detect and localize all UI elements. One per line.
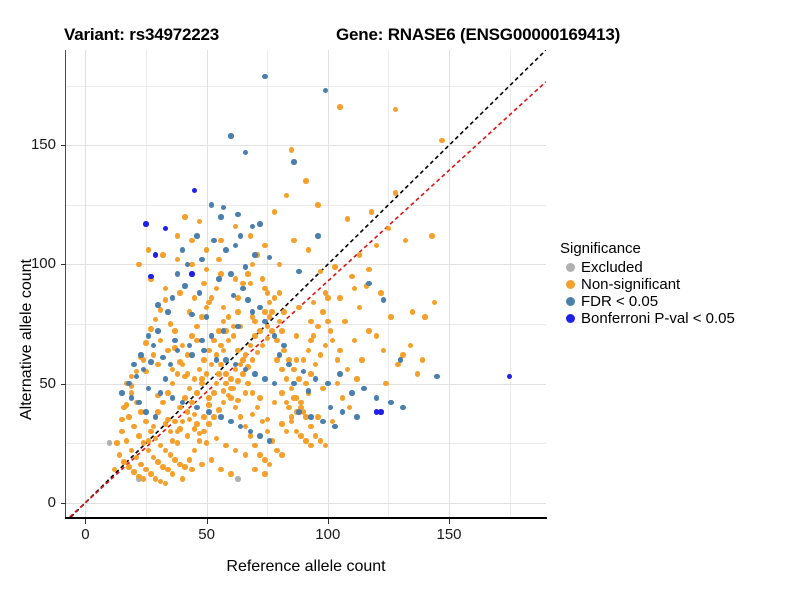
data-point (281, 309, 287, 315)
data-point (170, 395, 176, 401)
data-point (201, 357, 207, 363)
data-point (289, 414, 295, 420)
data-point (136, 400, 142, 406)
data-point (177, 359, 183, 365)
gridline-vertical-minor (267, 50, 268, 517)
data-point (238, 424, 244, 430)
data-point (143, 221, 149, 227)
data-point (315, 233, 321, 239)
scatter-plot-figure: Variant: rs34972223 Gene: RNASE6 (ENSG00… (0, 0, 800, 600)
data-point (383, 381, 389, 387)
data-point (415, 371, 421, 377)
reference-line-fitted (70, 82, 546, 517)
data-point (201, 414, 207, 420)
data-point (124, 438, 130, 444)
data-point (155, 328, 161, 334)
data-point (410, 309, 416, 315)
data-point (189, 238, 195, 244)
data-point (245, 271, 251, 277)
x-tick-mark (449, 519, 450, 524)
data-point (243, 452, 249, 458)
x-axis-line (65, 517, 547, 519)
data-point (168, 429, 174, 435)
data-point (163, 226, 169, 232)
data-point (201, 348, 207, 354)
data-point (272, 381, 278, 387)
variant-title: Variant: rs34972223 (64, 25, 219, 45)
data-point (255, 350, 261, 356)
data-point (129, 448, 135, 454)
data-point (172, 419, 178, 425)
data-point (257, 328, 263, 334)
data-point (395, 362, 401, 368)
data-point (308, 338, 314, 344)
data-point (223, 443, 229, 449)
data-point (153, 414, 159, 420)
data-point (197, 438, 203, 444)
data-point (146, 438, 152, 444)
data-point (218, 214, 224, 220)
x-tick-label: 100 (298, 526, 358, 543)
data-point (291, 159, 297, 165)
data-point (185, 409, 191, 415)
data-point (335, 357, 341, 363)
data-point (228, 395, 234, 401)
data-point (235, 348, 241, 354)
data-point (357, 252, 363, 258)
data-point (194, 405, 200, 411)
data-point (107, 440, 113, 446)
data-point (374, 395, 380, 401)
data-point (311, 333, 317, 339)
data-point (153, 317, 159, 323)
data-point (400, 405, 406, 411)
data-point (187, 417, 193, 423)
data-point (189, 467, 195, 473)
data-point (218, 238, 224, 244)
data-point (223, 357, 229, 363)
data-point (422, 314, 428, 320)
data-point (245, 297, 251, 303)
data-point (136, 262, 142, 268)
data-point (303, 381, 309, 387)
reference-lines (66, 50, 546, 517)
data-point (192, 448, 198, 454)
data-point (199, 462, 205, 468)
legend-item[interactable]: Non-significant (560, 276, 795, 293)
legend-item[interactable]: FDR < 0.05 (560, 293, 795, 310)
data-point (349, 274, 355, 280)
data-point (308, 319, 314, 325)
y-tick-mark (61, 145, 66, 146)
data-point (328, 328, 334, 334)
legend-swatch-icon (566, 263, 575, 272)
data-point (313, 376, 319, 382)
legend-swatch-icon (566, 297, 575, 306)
data-point (393, 190, 399, 196)
data-point (240, 286, 246, 292)
data-point (243, 352, 249, 358)
data-point (262, 309, 268, 315)
data-point (235, 324, 241, 330)
data-point (318, 352, 324, 358)
data-point (131, 362, 137, 368)
data-point (291, 238, 297, 244)
data-point (262, 319, 268, 325)
data-point (388, 400, 394, 406)
data-point (175, 271, 181, 277)
legend-item-label: Excluded (581, 259, 643, 276)
data-point (218, 362, 224, 368)
data-point (432, 300, 438, 306)
data-point (175, 440, 181, 446)
data-point (277, 352, 283, 358)
data-point (429, 233, 435, 239)
x-tick-label: 50 (177, 526, 237, 543)
data-point (325, 381, 331, 387)
data-point (189, 352, 195, 358)
data-point (180, 400, 186, 406)
gridline-horizontal-minor (66, 86, 546, 87)
data-point (126, 414, 132, 420)
data-point (194, 324, 200, 330)
data-point (148, 429, 154, 435)
data-point (354, 376, 360, 382)
data-point (318, 269, 324, 275)
gridline-vertical-minor (146, 50, 147, 517)
data-point (197, 219, 203, 225)
data-point (114, 440, 120, 446)
data-point (359, 357, 365, 363)
data-point (393, 107, 399, 113)
data-point (153, 436, 159, 442)
data-point (374, 333, 380, 339)
data-point (357, 305, 363, 311)
data-point (231, 333, 237, 339)
gridline-horizontal-minor (66, 324, 546, 325)
data-point (206, 421, 212, 427)
data-point (243, 264, 249, 270)
data-point (320, 419, 326, 425)
data-point (354, 414, 360, 420)
data-point (243, 390, 249, 396)
data-point (177, 405, 183, 411)
data-point (160, 400, 166, 406)
y-tick-mark (61, 384, 66, 385)
data-point (180, 247, 186, 253)
data-point (199, 338, 205, 344)
plot-panel (66, 50, 546, 517)
data-point (352, 338, 358, 344)
data-point (235, 309, 241, 315)
data-point (165, 348, 171, 354)
data-point (170, 381, 176, 387)
data-point (340, 395, 346, 401)
data-point (206, 395, 212, 401)
data-point (192, 295, 198, 301)
data-point (274, 357, 280, 363)
data-point (439, 138, 445, 144)
data-point (279, 452, 285, 458)
data-point (342, 319, 348, 325)
data-point (252, 467, 258, 473)
data-point (226, 314, 232, 320)
data-point (378, 290, 384, 296)
data-point (119, 417, 125, 423)
data-point (204, 305, 210, 311)
data-point (248, 343, 254, 349)
data-point (211, 238, 217, 244)
data-point (170, 295, 176, 301)
x-axis-label: Reference allele count (66, 558, 546, 576)
data-point (308, 443, 314, 449)
data-point (214, 436, 220, 442)
data-point (218, 467, 224, 473)
data-point (345, 367, 351, 373)
data-point (197, 290, 203, 296)
y-tick-mark (61, 503, 66, 504)
data-point (301, 369, 307, 375)
data-point (238, 362, 244, 368)
data-point (378, 409, 384, 415)
data-point (146, 247, 152, 253)
data-point (311, 300, 317, 306)
data-point (141, 476, 147, 482)
data-point (248, 233, 254, 239)
legend-swatch-icon (566, 314, 575, 323)
x-tick-label: 0 (55, 526, 115, 543)
data-point (199, 257, 205, 263)
data-point (403, 238, 409, 244)
data-point (170, 471, 176, 477)
data-point (238, 233, 244, 239)
data-point (134, 455, 140, 461)
data-point (197, 367, 203, 373)
data-point (345, 216, 351, 222)
data-point (165, 309, 171, 315)
data-point (243, 150, 249, 156)
data-point (262, 243, 268, 249)
data-point (294, 357, 300, 363)
data-point (214, 381, 220, 387)
data-point (206, 409, 212, 415)
gridline-horizontal-major (66, 503, 546, 504)
data-point (296, 305, 302, 311)
data-point (286, 405, 292, 411)
y-tick-label: 150 (10, 136, 56, 153)
data-point (233, 362, 239, 368)
data-point (197, 431, 203, 437)
data-point (294, 333, 300, 339)
data-point (182, 283, 188, 289)
data-point (204, 440, 210, 446)
data-point (180, 476, 186, 482)
data-point (262, 471, 268, 477)
data-point (291, 367, 297, 373)
data-point (211, 414, 217, 420)
legend-item[interactable]: Bonferroni P-val < 0.05 (560, 310, 795, 327)
data-point (366, 328, 372, 334)
data-point (335, 381, 341, 387)
data-point (337, 371, 343, 377)
x-tick-mark (207, 519, 208, 524)
legend-items: ExcludedNon-significantFDR < 0.05Bonferr… (560, 259, 795, 327)
data-point (235, 476, 241, 482)
data-point (313, 433, 319, 439)
data-point (233, 276, 239, 282)
data-point (199, 381, 205, 387)
data-point (325, 295, 331, 301)
data-point (252, 371, 258, 377)
data-point (265, 417, 271, 423)
data-point (269, 309, 275, 315)
data-point (182, 464, 188, 470)
data-point (187, 343, 193, 349)
data-point (206, 402, 212, 408)
data-point (221, 348, 227, 354)
data-point (189, 271, 195, 277)
data-point (284, 193, 290, 199)
data-point (240, 371, 246, 377)
data-point (182, 214, 188, 220)
data-point (228, 133, 234, 139)
data-point (315, 202, 321, 208)
data-point (320, 309, 326, 315)
data-point (206, 348, 212, 354)
data-point (211, 390, 217, 396)
data-point (320, 386, 326, 392)
data-point (420, 357, 426, 363)
data-point (252, 443, 258, 449)
data-point (187, 386, 193, 392)
data-point (281, 343, 287, 349)
data-point (117, 452, 123, 458)
data-point (296, 269, 302, 275)
data-point (177, 290, 183, 296)
data-point (204, 247, 210, 253)
data-point (226, 338, 232, 344)
data-point (189, 262, 195, 268)
data-point (374, 243, 380, 249)
data-point (221, 388, 227, 394)
data-point (163, 297, 169, 303)
data-point (398, 357, 404, 363)
gridline-vertical-minor (388, 50, 389, 517)
data-point (277, 290, 283, 296)
legend-item-label: FDR < 0.05 (581, 293, 658, 310)
legend-item[interactable]: Excluded (560, 259, 795, 276)
data-point (267, 300, 273, 306)
data-point (250, 224, 256, 230)
data-point (323, 290, 329, 296)
data-point (194, 233, 200, 239)
data-point (151, 343, 157, 349)
data-point (308, 424, 314, 430)
data-point (279, 421, 285, 427)
data-point (143, 419, 149, 425)
data-point (148, 326, 154, 332)
data-point (408, 343, 414, 349)
data-point (507, 374, 513, 380)
data-point (248, 281, 254, 287)
data-point (136, 433, 142, 439)
data-point (228, 471, 234, 477)
data-point (209, 362, 215, 368)
data-point (265, 429, 271, 435)
data-point (366, 267, 372, 273)
data-point (262, 74, 268, 80)
data-point (284, 376, 290, 382)
data-point (233, 405, 239, 411)
data-point (233, 224, 239, 230)
data-point (250, 262, 256, 268)
data-point (163, 448, 169, 454)
data-point (131, 424, 137, 430)
data-point (243, 367, 249, 373)
data-point (146, 448, 152, 454)
data-point (233, 448, 239, 454)
data-point (265, 290, 271, 296)
data-point (163, 376, 169, 382)
data-point (158, 390, 164, 396)
data-point (243, 424, 249, 430)
data-point (332, 424, 338, 430)
data-point (250, 357, 256, 363)
data-point (340, 409, 346, 415)
data-point (250, 390, 256, 396)
data-point (175, 371, 181, 377)
data-point (267, 438, 273, 444)
data-point (126, 381, 132, 387)
data-point (211, 338, 217, 344)
data-point (155, 362, 161, 368)
data-point (250, 412, 256, 418)
data-point (328, 405, 334, 411)
data-point (235, 212, 241, 218)
data-point (192, 188, 198, 194)
data-point (223, 381, 229, 387)
data-point (386, 226, 392, 232)
data-point (233, 243, 239, 249)
data-point (192, 412, 198, 418)
data-point (235, 295, 241, 301)
x-tick-label: 150 (419, 526, 479, 543)
gridline-vertical-minor (510, 50, 511, 517)
data-point (272, 295, 278, 301)
data-point (148, 359, 154, 365)
data-point (194, 421, 200, 427)
data-point (267, 255, 273, 261)
data-point (223, 247, 229, 253)
data-point (289, 386, 295, 392)
data-point (274, 338, 280, 344)
data-point (221, 400, 227, 406)
data-point (306, 388, 312, 394)
data-point (221, 305, 227, 311)
data-point (218, 414, 224, 420)
data-point (260, 343, 266, 349)
data-point (260, 276, 266, 282)
data-point (134, 374, 140, 380)
data-point (160, 252, 166, 258)
data-point (301, 357, 307, 363)
data-point (146, 386, 152, 392)
data-point (172, 338, 178, 344)
data-point (347, 405, 353, 411)
data-point (284, 429, 290, 435)
data-point (267, 462, 273, 468)
data-point (204, 267, 210, 273)
